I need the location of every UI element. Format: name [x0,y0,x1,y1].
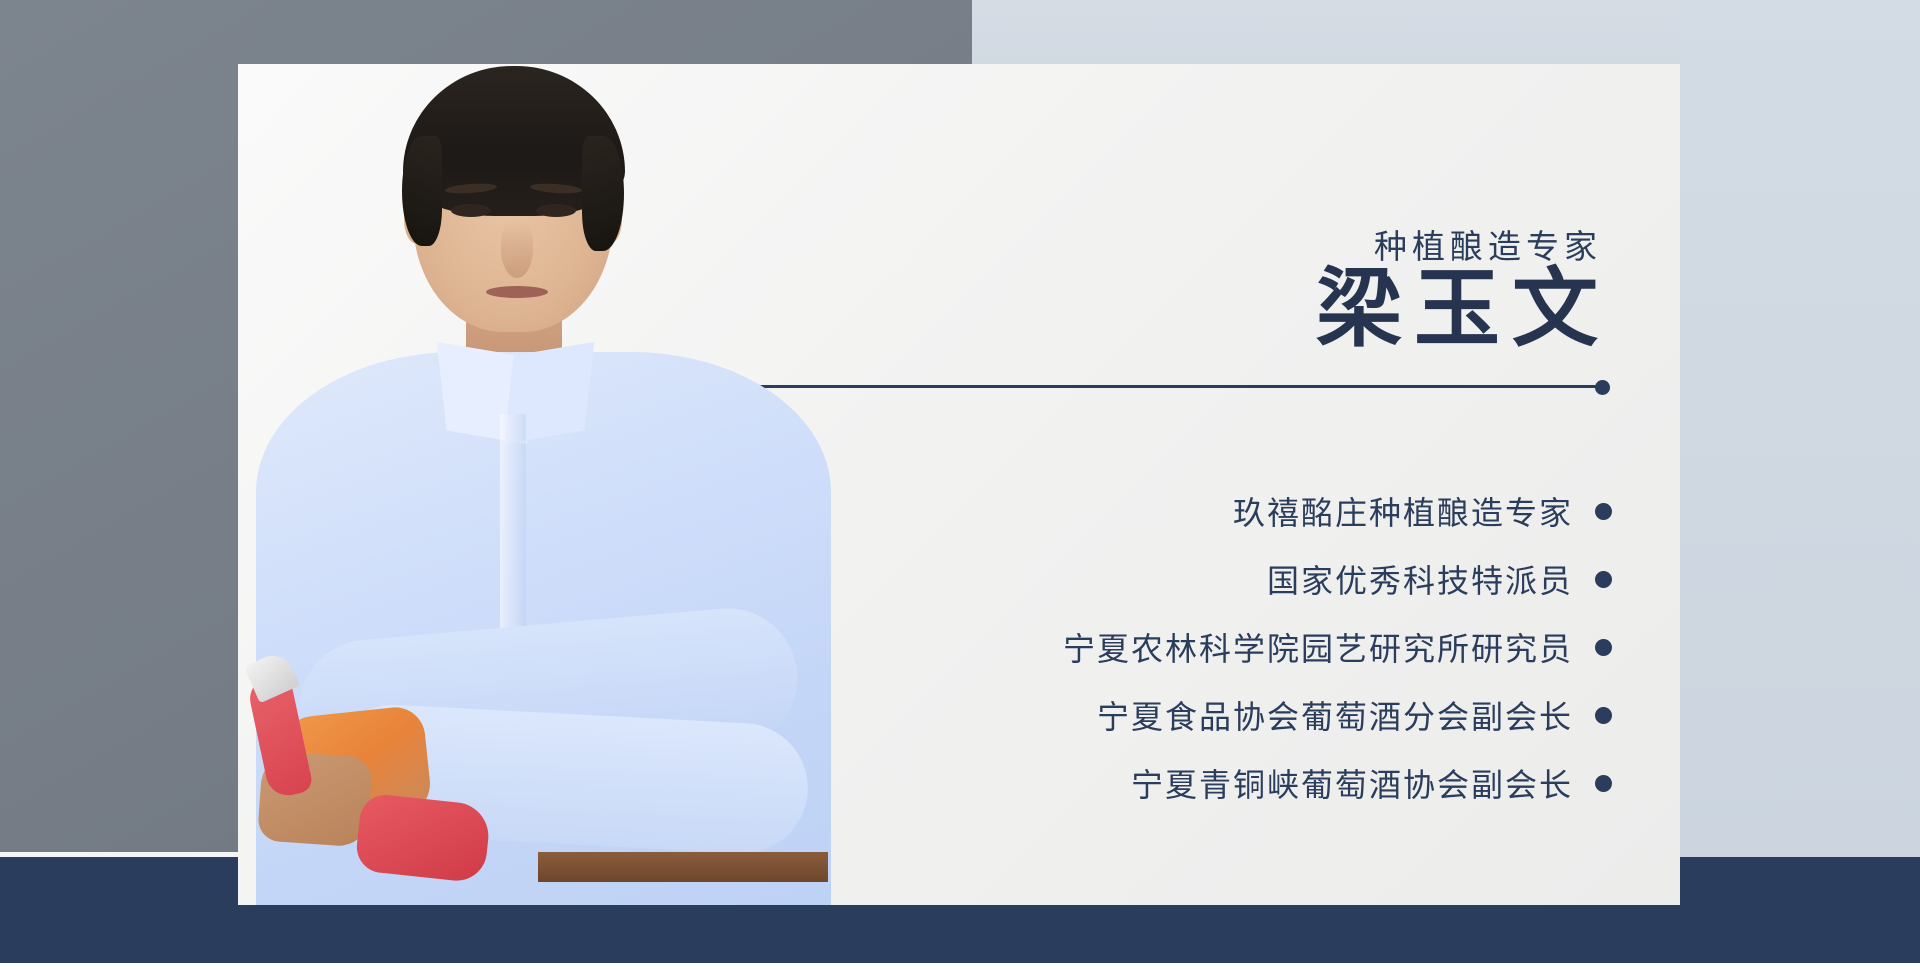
background-navy-bottom-right-block [1680,857,1920,965]
list-item: 宁夏食品协会葡萄酒分会副会长 [1097,692,1612,738]
portrait-mouth [486,286,548,298]
background-pale-blue-right-band [1680,0,1920,858]
portrait-photo [238,64,858,905]
credential-label: 宁夏农林科学院园艺研究所研究员 [1063,624,1573,670]
credential-label: 国家优秀科技特派员 [1267,556,1573,602]
credentials-list: 玖禧酩庄种植酿造专家 国家优秀科技特派员 宁夏农林科学院园艺研究所研究员 宁夏食… [1063,488,1612,806]
pruning-shears-body [354,792,491,883]
portrait-eye-left [451,204,491,217]
profile-card: 种植酿造专家 梁玉文 玖禧酩庄种植酿造专家 国家优秀科技特派员 宁夏农林科学院园… [238,64,1680,905]
list-item: 玖禧酩庄种植酿造专家 [1233,488,1612,534]
background-white-bottom-strip [0,963,1920,970]
credential-label: 玖禧酩庄种植酿造专家 [1233,488,1573,534]
profile-name: 梁玉文 [1316,260,1610,359]
portrait-belt [538,852,828,882]
bullet-dot-icon [1595,707,1612,724]
list-item: 国家优秀科技特派员 [1267,556,1612,602]
portrait-hair-right [582,136,624,251]
divider-end-dot-icon [1595,380,1610,395]
credential-label: 宁夏食品协会葡萄酒分会副会长 [1097,692,1573,738]
list-item: 宁夏农林科学院园艺研究所研究员 [1063,624,1612,670]
list-item: 宁夏青铜峡葡萄酒协会副会长 [1131,760,1612,806]
credential-label: 宁夏青铜峡葡萄酒协会副会长 [1131,760,1573,806]
bullet-dot-icon [1595,775,1612,792]
poster-canvas: 种植酿造专家 梁玉文 玖禧酩庄种植酿造专家 国家优秀科技特派员 宁夏农林科学院园… [0,0,1920,970]
portrait-hair-left [402,136,442,246]
portrait-nose [501,220,533,278]
bullet-dot-icon [1595,639,1612,656]
portrait-eye-right [536,204,576,217]
divider [646,380,1610,394]
bullet-dot-icon [1595,571,1612,588]
divider-line [646,385,1596,388]
bullet-dot-icon [1595,503,1612,520]
